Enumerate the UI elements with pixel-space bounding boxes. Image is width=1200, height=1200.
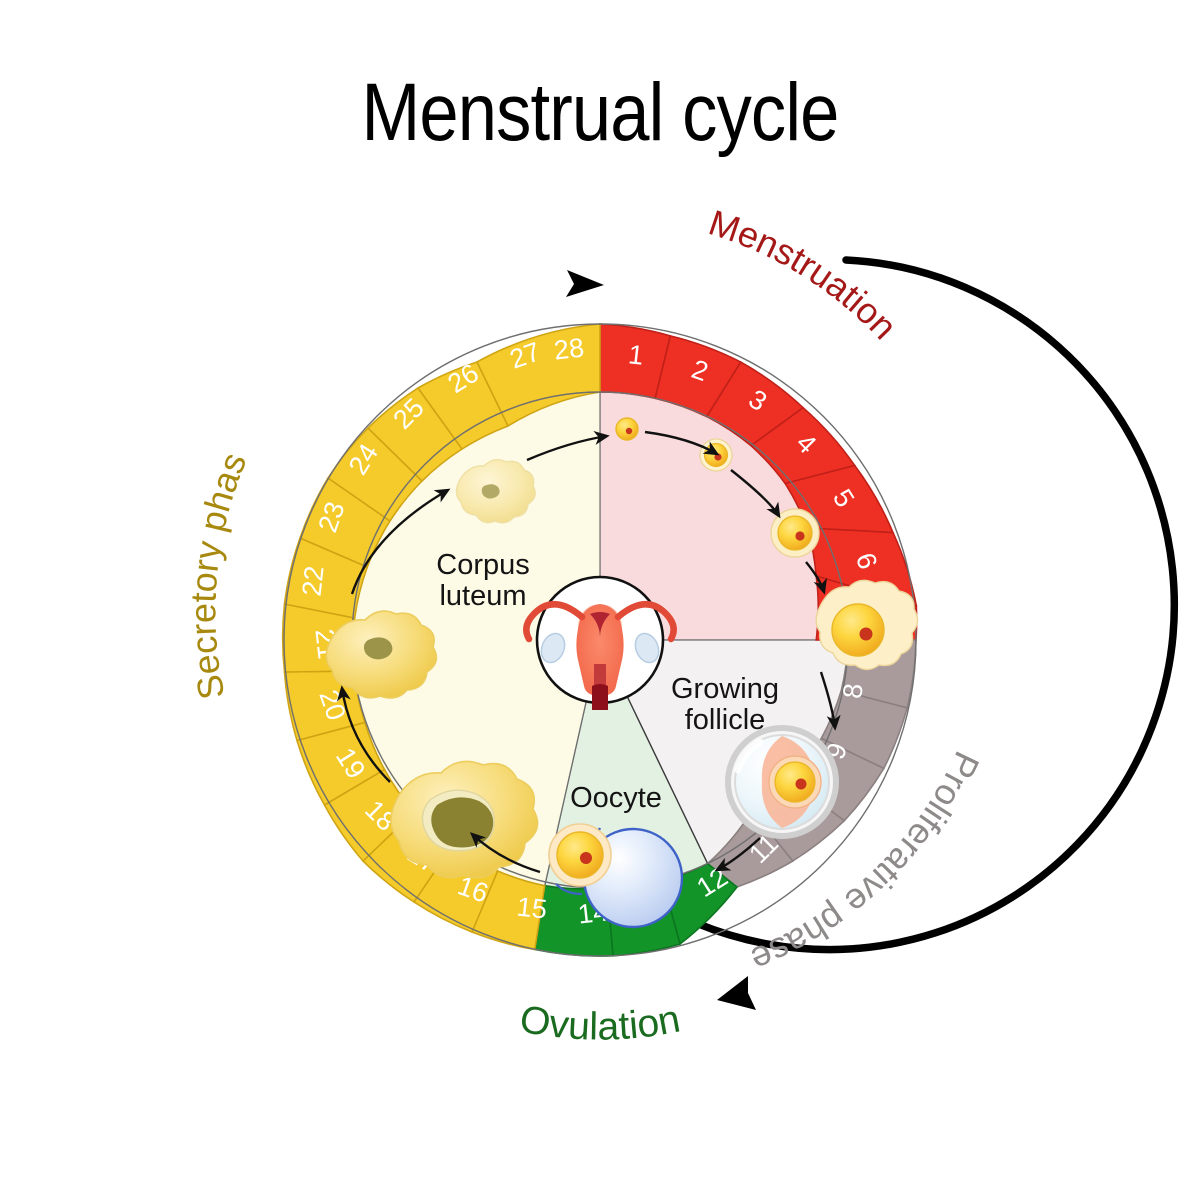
primordial-follicle-icon: [616, 418, 638, 440]
day-label: 28: [552, 332, 585, 365]
phase-label-secretory-text: Secretory phase: [0, 0, 254, 703]
corpus-luteum-label-line2: luteum: [439, 580, 526, 612]
oocyte-label: Oocyte: [570, 782, 662, 814]
corpus-luteum-label-line1: Corpus: [436, 549, 530, 581]
phase-label-ovulation: Ovulation: [517, 998, 684, 1049]
mature-graafian-follicle-icon: [728, 728, 836, 836]
day-label: 22: [296, 564, 329, 597]
primary-follicle-icon: [700, 439, 732, 471]
phase-label-menstruation-text: Menstruation: [704, 202, 905, 348]
day-label: 15: [515, 891, 548, 924]
phase-label-menstruation: Menstruation: [704, 202, 905, 348]
diagram-canvas: Menstrual cycle: [0, 0, 1200, 1200]
menstrual-cycle-wheel: 1 2 3 4 5 6 7 8 9 10 11 12 13 14 15 16 1…: [0, 0, 1200, 1200]
phase-label-ovulation-text: Ovulation: [517, 998, 684, 1049]
growing-follicle-label-line2: follicle: [685, 704, 766, 736]
phase-label-secretory: Secretory phase: [0, 0, 254, 703]
growing-follicle-label-line1: Growing: [671, 673, 779, 705]
